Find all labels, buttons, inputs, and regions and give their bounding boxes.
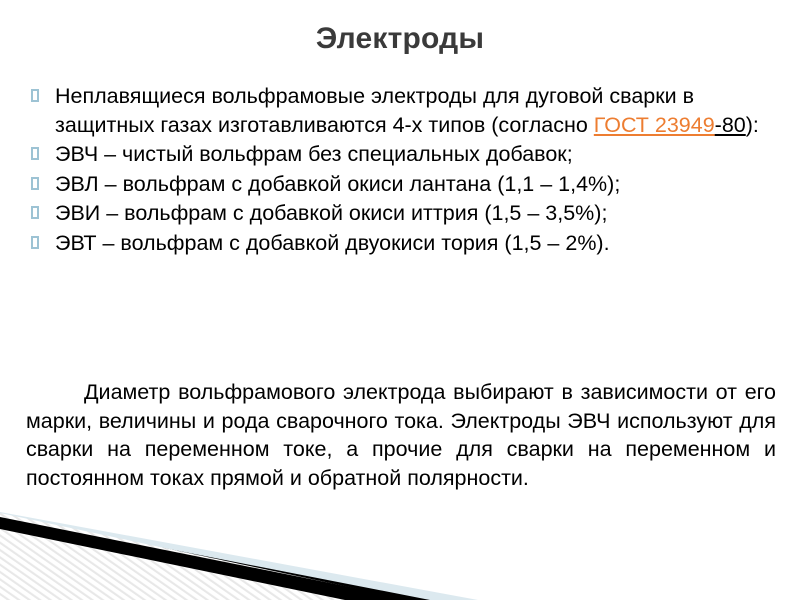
list-item: ЭВИ – вольфрам с добавкой окиси иттрия (… [26, 199, 774, 228]
list-item: ЭВЛ – вольфрам с добавкой окиси лантана … [26, 170, 774, 199]
closing-paragraph: Диаметр вольфрамового электрода выбирают… [26, 378, 776, 492]
bullet-text-evch: ЭВЧ – чистый вольфрам без специальных до… [55, 142, 573, 166]
square-bullet-icon [31, 206, 39, 219]
corner-decoration-graphic [0, 500, 800, 600]
bullet-list: Неплавящиеся вольфрамовые электроды для … [26, 82, 774, 257]
list-item: Неплавящиеся вольфрамовые электроды для … [26, 82, 774, 139]
square-bullet-icon [31, 177, 39, 190]
decoration-black-wedge [0, 516, 430, 600]
slide-canvas: Электроды Неплавящиеся вольфрамовые элек… [0, 0, 800, 600]
list-item: ЭВТ – вольфрам с добавкой двуокиси тория… [26, 229, 774, 258]
page-title: Электроды [0, 22, 800, 55]
slide-body: Неплавящиеся вольфрамовые электроды для … [26, 82, 774, 258]
bullet-text-tail: ): [746, 113, 759, 137]
gost-year-suffix: -80 [715, 113, 746, 137]
list-item: ЭВЧ – чистый вольфрам без специальных до… [26, 140, 774, 169]
bullet-text-evl: ЭВЛ – вольфрам с добавкой окиси лантана … [55, 172, 620, 196]
bullet-text-evt: ЭВТ – вольфрам с добавкой двуокиси тория… [55, 231, 610, 255]
decoration-blue-band [0, 512, 478, 600]
square-bullet-icon [31, 89, 39, 102]
decoration-hatched-triangle [0, 513, 410, 600]
decoration-black-wedge-overlay [0, 517, 415, 600]
square-bullet-icon [31, 147, 39, 160]
bullet-text-evi: ЭВИ – вольфрам с добавкой окиси иттрия (… [55, 201, 607, 225]
square-bullet-icon [31, 236, 39, 249]
closing-paragraph-text: Диаметр вольфрамового электрода выбирают… [26, 380, 776, 490]
gost-hyperlink[interactable]: ГОСТ 23949 [594, 113, 715, 137]
